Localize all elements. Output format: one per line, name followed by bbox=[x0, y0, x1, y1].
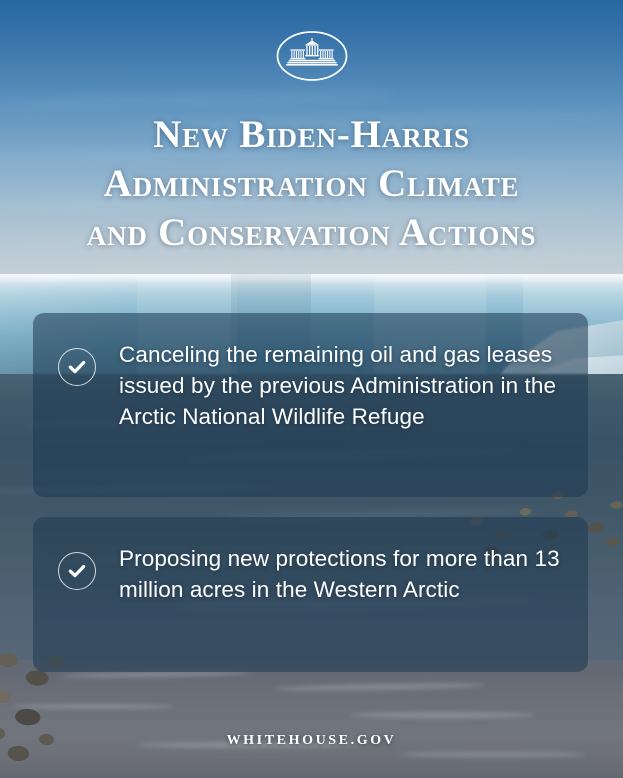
title-line-1: New Biden-Harris bbox=[22, 110, 601, 159]
page-title: New Biden-Harris Administration Climate … bbox=[0, 110, 623, 257]
climate-actions-graphic: New Biden-Harris Administration Climate … bbox=[0, 0, 623, 778]
check-circle-icon bbox=[58, 348, 96, 386]
white-house-seal-icon bbox=[275, 30, 349, 82]
action-card-text: Canceling the remaining oil and gas leas… bbox=[119, 339, 566, 432]
seal-container bbox=[0, 30, 623, 82]
title-line-2: Administration Climate bbox=[22, 159, 601, 208]
check-circle-icon bbox=[58, 552, 96, 590]
title-line-3: and Conservation Actions bbox=[22, 208, 601, 257]
action-card-text: Proposing new protections for more than … bbox=[119, 543, 566, 605]
graphic-content: New Biden-Harris Administration Climate … bbox=[0, 0, 623, 778]
action-card: Canceling the remaining oil and gas leas… bbox=[33, 313, 588, 497]
footer-wordmark: WHITEHOUSE.GOV bbox=[0, 733, 623, 749]
action-card: Proposing new protections for more than … bbox=[33, 517, 588, 672]
